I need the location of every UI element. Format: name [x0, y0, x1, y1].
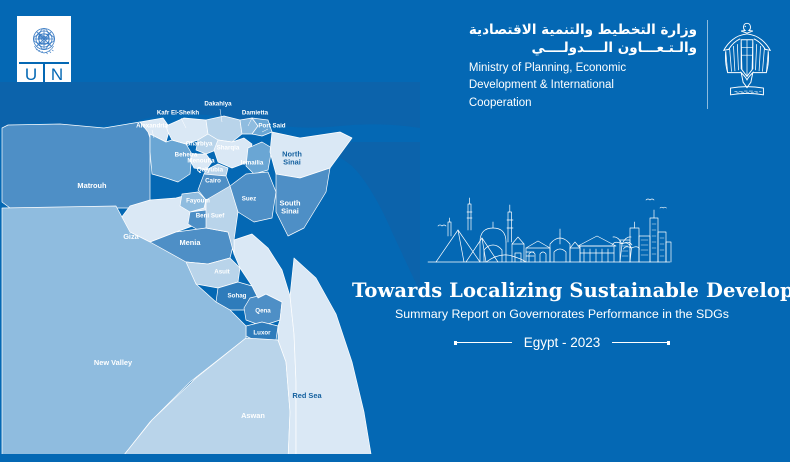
shape-matrouh	[2, 122, 150, 208]
ministry-divider	[707, 20, 708, 109]
page-subtitle: Summary Report on Governorates Performan…	[352, 307, 772, 322]
map-label-menoufia: Menoufia	[187, 158, 215, 165]
map-label-menia: Menia	[180, 238, 202, 247]
ministry-branding: وزارة التخطيط والتنمية الاقتصادية والـتـ…	[469, 18, 776, 111]
map-label-fayoum: Fayoum	[186, 198, 210, 205]
ministry-english-line-1: Ministry of Planning, Economic	[469, 61, 697, 76]
year-rule-left	[454, 341, 512, 345]
governorate-shapes	[2, 116, 372, 460]
ministry-english-line-3: Cooperation	[469, 96, 697, 111]
map-label-qalyubia: Qalyubia	[197, 167, 224, 174]
ministry-arabic-line-2: والـتـعـــاون الــــدولــــي	[469, 40, 697, 58]
ministry-text-block: وزارة التخطيط والتنمية الاقتصادية والـتـ…	[469, 18, 697, 111]
map-label-south-sinai: SouthSinai	[280, 199, 301, 216]
map-label-asuit: Asuit	[214, 269, 229, 276]
map-svg: MatrouhAlexandriaKafr El-SheikhDakahlyaD…	[0, 82, 420, 462]
egypt-skyline-illustration	[424, 186, 674, 268]
map-label-alexandria: Alexandria	[136, 123, 168, 130]
year-rule-left-bar	[457, 342, 512, 343]
map-label-suez: Suez	[242, 196, 256, 203]
map-label-port-said: Port Said	[258, 123, 285, 130]
map-label-red-sea: Red Sea	[292, 391, 322, 400]
map-label-qena: Qena	[255, 308, 271, 315]
ministry-arabic-line-1: وزارة التخطيط والتنمية الاقتصادية	[469, 22, 697, 40]
map-label-giza: Giza	[123, 232, 139, 241]
year-rule-right-dot	[667, 341, 671, 345]
year-rule-right-bar	[612, 342, 667, 343]
report-cover: U N D P وزارة التخطيط والتنمية الاقتصادي…	[0, 0, 790, 462]
year-row: Egypt - 2023	[352, 335, 772, 350]
map-label-sharqia: Sharqia	[217, 145, 240, 152]
map-bottom-strip	[0, 454, 420, 462]
map-label-north-sinai: NorthSinai	[282, 150, 302, 167]
map-label-new-valley: New Valley	[94, 358, 133, 367]
year-rule-right	[612, 341, 670, 345]
map-label-matrouh: Matrouh	[77, 181, 107, 190]
ministry-english-line-2: Development & International	[469, 78, 697, 93]
un-globe-wreath-icon	[19, 18, 69, 62]
map-label-beni-suef: Beni Suef	[196, 213, 225, 220]
map-label-luxor: Luxor	[253, 330, 271, 337]
title-block: Towards Localizing Sustainable Developme…	[352, 280, 772, 350]
map-label-gharbiya: Gharbiya	[186, 141, 213, 148]
map-label-damietta: Damietta	[242, 110, 269, 117]
map-label-aswan: Aswan	[241, 411, 265, 420]
egypt-governorates-map: MatrouhAlexandriaKafr El-SheikhDakahlyaD…	[0, 82, 420, 462]
map-label-sohag: Sohag	[228, 293, 247, 300]
eagle-of-saladin-icon	[718, 18, 776, 104]
map-label-dakahlya: Dakahlya	[204, 101, 232, 108]
map-label-cairo: Cairo	[205, 178, 221, 185]
year-label: Egypt - 2023	[524, 335, 601, 350]
page-title: Towards Localizing Sustainable Developme…	[352, 280, 772, 302]
map-label-ismailia: Ismailia	[241, 160, 264, 167]
map-label-kafr-el-sheikh: Kafr El-Sheikh	[157, 110, 200, 117]
